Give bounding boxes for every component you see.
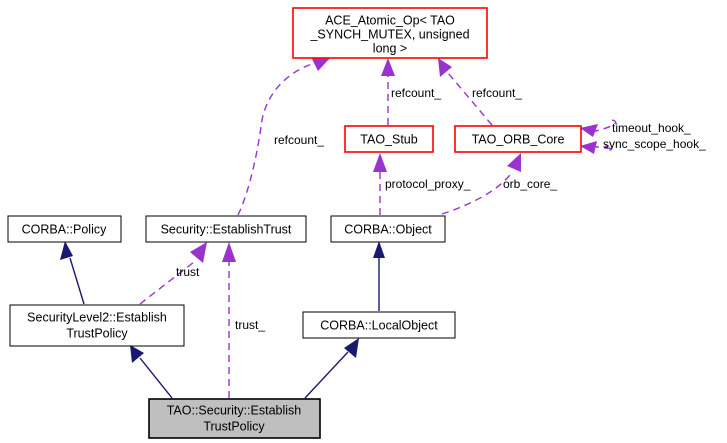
arrowhead-usage-protocolproxy <box>373 153 387 172</box>
node-tao-orb-core[interactable]: TAO_ORB_Core <box>455 126 581 152</box>
edge-label-layer: refcount_ refcount_ refcount_ protocol_p… <box>176 86 706 332</box>
node-corba-policy[interactable]: CORBA::Policy <box>8 216 121 242</box>
node-label-securitylevel2-line2: TrustPolicy <box>66 326 128 340</box>
arrowhead-usage-establishtrust <box>311 57 330 71</box>
edge-securitylevel2-to-corbapolicy <box>70 258 84 304</box>
arrowhead-usage-syncscopehook <box>580 141 597 154</box>
node-corba-local-object[interactable]: CORBA::LocalObject <box>303 312 455 338</box>
node-tao-stub[interactable]: TAO_Stub <box>345 126 433 152</box>
node-label-securitylevel2-line1: SecurityLevel2::Establish <box>27 310 167 324</box>
arrowhead-inherit-localobject <box>373 241 385 258</box>
uml-collaboration-diagram: ACE_Atomic_Op< TAO _SYNCH_MUTEX, unsigne… <box>0 0 727 443</box>
node-label-tao-security-line1: TAO::Security::Establish <box>167 403 302 417</box>
arrowhead-usage-timeouthook <box>580 124 598 137</box>
edge-label-trust: trust <box>176 265 200 279</box>
edge-label-refcount-right: refcount_ <box>472 86 522 100</box>
edge-label-sync-scope-hook: sync_scope_hook_ <box>603 137 706 151</box>
arrowhead-usage-trust <box>190 242 207 263</box>
edge-label-timeout-hook: timeout_hook_ <box>612 121 691 135</box>
arrowhead-inherit-localobject-2 <box>344 338 359 358</box>
node-ace-atomic-op[interactable]: ACE_Atomic_Op< TAO _SYNCH_MUTEX, unsigne… <box>293 8 487 58</box>
node-label-security-establish-trust: Security::EstablishTrust <box>161 222 292 236</box>
node-label-tao-security-line2: TrustPolicy <box>203 419 265 433</box>
edge-label-protocol-proxy: protocol_proxy_ <box>385 177 471 191</box>
node-label-corba-local-object: CORBA::LocalObject <box>320 318 438 332</box>
node-securitylevel2-establish-trust-policy[interactable]: SecurityLevel2::Establish TrustPolicy <box>10 305 184 346</box>
node-label-ace-atomic-op-line2: _SYNCH_MUTEX, unsigned <box>309 27 469 41</box>
node-label-corba-policy: CORBA::Policy <box>22 222 107 236</box>
node-label-corba-object: CORBA::Object <box>344 222 432 236</box>
arrowhead-usage-taostub <box>381 58 395 76</box>
edge-label-orb-core: orb_core_ <box>503 177 557 191</box>
diagram-canvas: ACE_Atomic_Op< TAO _SYNCH_MUTEX, unsigne… <box>0 0 727 443</box>
edge-taosecurity-to-localobject <box>305 352 348 398</box>
node-security-establish-trust[interactable]: Security::EstablishTrust <box>146 216 306 242</box>
node-label-tao-orb-core: TAO_ORB_Core <box>472 132 565 146</box>
node-label-ace-atomic-op-line3: long > <box>373 41 407 55</box>
edge-label-refcount-left: refcount_ <box>274 133 324 147</box>
node-corba-object[interactable]: CORBA::Object <box>331 216 445 242</box>
edge-label-trust-underscore: trust_ <box>235 318 265 332</box>
edge-label-refcount-middle: refcount_ <box>391 86 441 100</box>
arrowhead-usage-orbcore <box>507 153 521 172</box>
node-label-tao-stub: TAO_Stub <box>360 132 417 146</box>
arrowhead-usage-taoorbcore <box>438 58 452 77</box>
edge-taosecurity-to-securitylevel2 <box>140 358 172 398</box>
node-label-ace-atomic-op-line1: ACE_Atomic_Op< TAO <box>325 13 455 27</box>
arrowhead-usage-trust-underscore <box>222 242 236 262</box>
arrowhead-inherit-corbapolicy <box>60 241 73 260</box>
node-tao-security-establish-trust-policy[interactable]: TAO::Security::Establish TrustPolicy <box>149 399 320 438</box>
